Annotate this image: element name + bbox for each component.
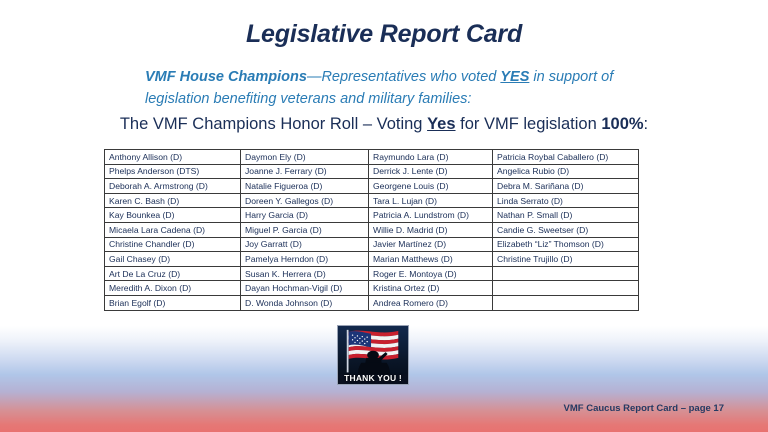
subtitle-part1: —Representatives who voted	[307, 69, 500, 85]
roster-cell: Art De La Cruz (D)	[105, 266, 241, 281]
footer-page-label: VMF Caucus Report Card – page 17	[564, 403, 724, 414]
roster-cell: Harry Garcia (D)	[241, 208, 369, 223]
roster-cell: Phelps Anderson (DTS)	[105, 164, 241, 179]
roster-cell: Candie G. Sweetser (D)	[493, 222, 639, 237]
roster-cell: Patricia A. Lundstrom (D)	[369, 208, 493, 223]
roster-cell: Deborah A. Armstrong (D)	[105, 179, 241, 194]
roster-cell: Dayan Hochman-Vigil (D)	[241, 281, 369, 296]
roster-cell: Javier Martínez (D)	[369, 237, 493, 252]
roster-cell: Roger E. Montoya (D)	[369, 266, 493, 281]
roster-cell: Andrea Romero (D)	[369, 295, 493, 310]
roster-cell: D. Wonda Johnson (D)	[241, 295, 369, 310]
roster-cell: Kristina Ortez (D)	[369, 281, 493, 296]
roster-table-body: Anthony Allison (D)Daymon Ely (D)Raymund…	[105, 150, 639, 311]
table-row: Christine Chandler (D)Joy Garratt (D)Jav…	[105, 237, 639, 252]
roster-cell: Georgene Louis (D)	[369, 179, 493, 194]
roster-cell	[493, 266, 639, 281]
roster-cell: Natalie Figueroa (D)	[241, 179, 369, 194]
roster-cell	[493, 281, 639, 296]
roster-cell: Gail Chasey (D)	[105, 252, 241, 267]
honor-roll-percent: 100%	[601, 115, 643, 133]
roster-cell: Karen C. Bash (D)	[105, 193, 241, 208]
roster-cell: Joanne J. Ferrary (D)	[241, 164, 369, 179]
roster-cell: Micaela Lara Cadena (D)	[105, 222, 241, 237]
roster-cell: Patricia Roybal Caballero (D)	[493, 150, 639, 165]
champions-roster-table: Anthony Allison (D)Daymon Ely (D)Raymund…	[104, 149, 639, 311]
table-row: Phelps Anderson (DTS)Joanne J. Ferrary (…	[105, 164, 639, 179]
table-row: Brian Egolf (D)D. Wonda Johnson (D)Andre…	[105, 295, 639, 310]
honor-roll-heading: The VMF Champions Honor Roll – Voting Ye…	[0, 115, 768, 134]
honor-roll-emphasis: Yes	[427, 115, 455, 133]
roster-cell: Angelica Rubio (D)	[493, 164, 639, 179]
table-row: Karen C. Bash (D)Doreen Y. Gallegos (D)T…	[105, 193, 639, 208]
roster-cell: Willie D. Madrid (D)	[369, 222, 493, 237]
roster-cell: Nathan P. Small (D)	[493, 208, 639, 223]
roster-cell: Raymundo Lara (D)	[369, 150, 493, 165]
subtitle-lead: VMF House Champions	[145, 69, 307, 85]
page-title: Legislative Report Card	[0, 20, 768, 49]
roster-cell: Anthony Allison (D)	[105, 150, 241, 165]
slide-canvas: Legislative Report Card VMF House Champi…	[0, 0, 768, 432]
roster-cell: Derrick J. Lente (D)	[369, 164, 493, 179]
roster-cell: Tara L. Lujan (D)	[369, 193, 493, 208]
thank-you-caption: THANK YOU !	[338, 373, 408, 383]
roster-cell: Christine Chandler (D)	[105, 237, 241, 252]
roster-cell: Brian Egolf (D)	[105, 295, 241, 310]
honor-roll-part2: for VMF legislation	[456, 115, 602, 133]
roster-cell: Kay Bounkea (D)	[105, 208, 241, 223]
roster-cell	[493, 295, 639, 310]
roster-cell: Pamelya Herndon (D)	[241, 252, 369, 267]
table-row: Micaela Lara Cadena (D)Miguel P. Garcia …	[105, 222, 639, 237]
roster-cell: Daymon Ely (D)	[241, 150, 369, 165]
roster-cell: Joy Garratt (D)	[241, 237, 369, 252]
thank-you-flag-image: THANK YOU !	[337, 325, 409, 385]
roster-cell: Christine Trujillo (D)	[493, 252, 639, 267]
table-row: Deborah A. Armstrong (D)Natalie Figueroa…	[105, 179, 639, 194]
table-row: Meredith A. Dixon (D)Dayan Hochman-Vigil…	[105, 281, 639, 296]
table-row: Anthony Allison (D)Daymon Ely (D)Raymund…	[105, 150, 639, 165]
roster-cell: Meredith A. Dixon (D)	[105, 281, 241, 296]
roster-cell: Marian Matthews (D)	[369, 252, 493, 267]
subtitle-block: VMF House Champions—Representatives who …	[145, 66, 645, 111]
honor-roll-part1: The VMF Champions Honor Roll – Voting	[120, 115, 427, 133]
roster-cell: Susan K. Herrera (D)	[241, 266, 369, 281]
subtitle-emphasis: YES	[500, 69, 529, 85]
roster-cell: Miguel P. Garcia (D)	[241, 222, 369, 237]
table-row: Gail Chasey (D)Pamelya Herndon (D)Marian…	[105, 252, 639, 267]
table-row: Art De La Cruz (D)Susan K. Herrera (D)Ro…	[105, 266, 639, 281]
honor-roll-part3: :	[644, 115, 649, 133]
roster-cell: Linda Serrato (D)	[493, 193, 639, 208]
roster-cell: Elizabeth “Liz” Thomson (D)	[493, 237, 639, 252]
roster-cell: Doreen Y. Gallegos (D)	[241, 193, 369, 208]
table-row: Kay Bounkea (D)Harry Garcia (D)Patricia …	[105, 208, 639, 223]
roster-cell: Debra M. Sariñana (D)	[493, 179, 639, 194]
